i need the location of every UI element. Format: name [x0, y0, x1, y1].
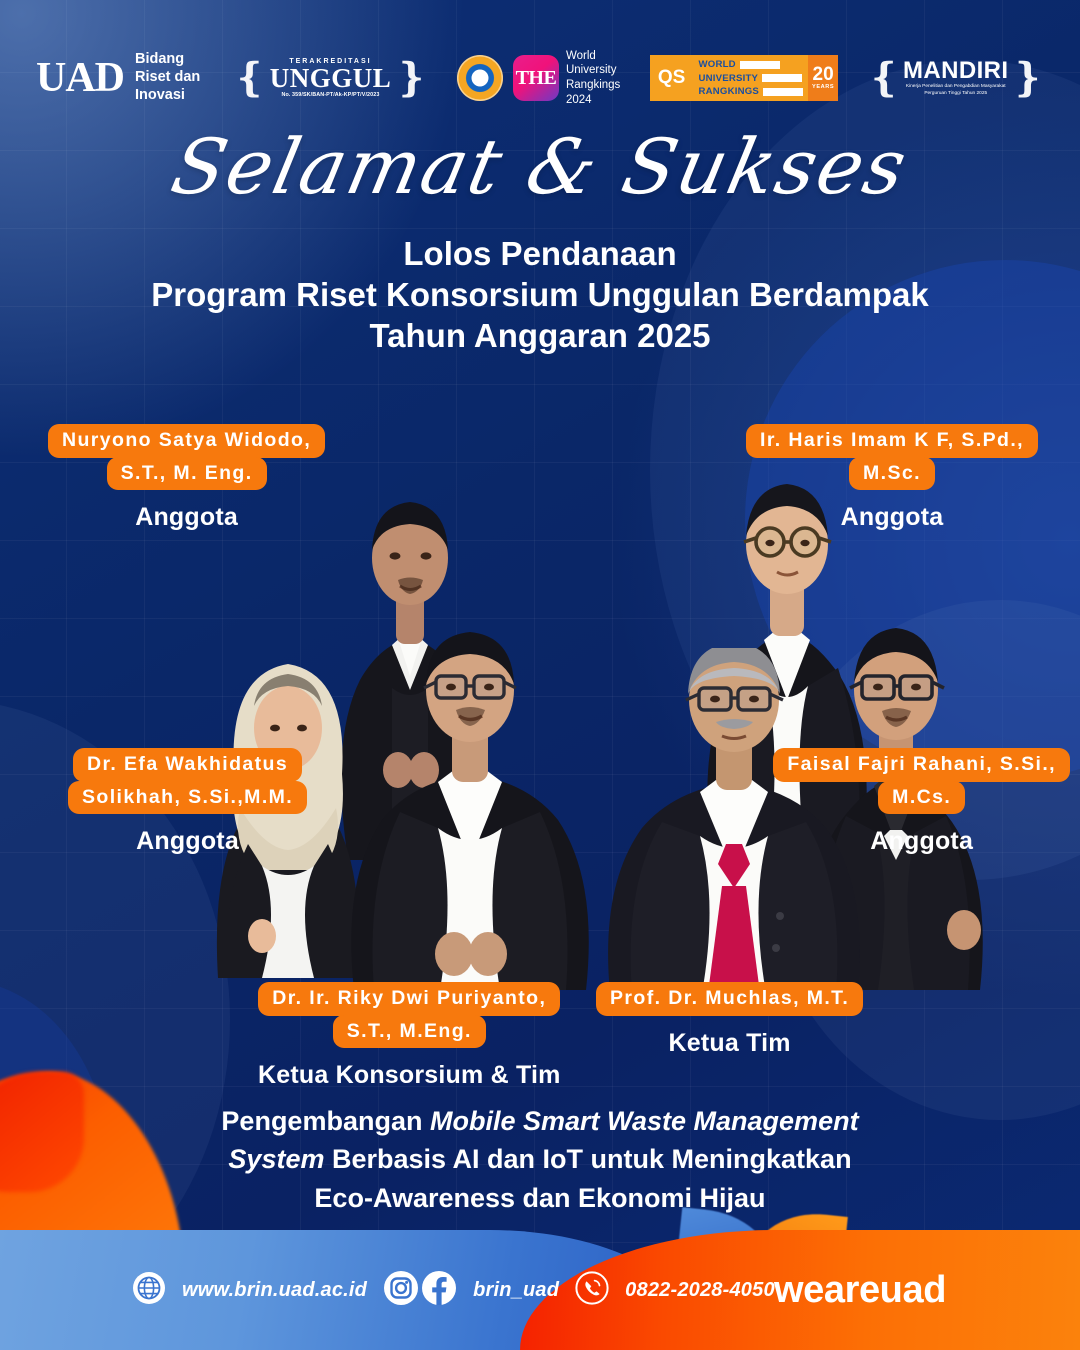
- name-badge-faisal: Faisal Fajri Rahani, S.Si., M.Cs.: [773, 748, 1070, 814]
- name-badge-haris: Ir. Haris Imam K F, S.Pd., M.Sc.: [746, 424, 1038, 490]
- badge-line: Faisal Fajri Rahani, S.Si.,: [773, 748, 1070, 782]
- role-label-nuryono: Anggota: [48, 503, 325, 532]
- instagram-icon[interactable]: [383, 1270, 419, 1311]
- role-label-muchlas: Ketua Tim: [596, 1029, 863, 1058]
- badge-line: Ir. Haris Imam K F, S.Pd.,: [746, 424, 1038, 458]
- project-line1-plain: Pengembangan: [221, 1106, 430, 1136]
- badge-line: M.Cs.: [878, 781, 965, 815]
- name-badge-muchlas: Prof. Dr. Muchlas, M.T.: [596, 982, 863, 1016]
- badge-line: Dr. Efa Wakhidatus: [73, 748, 302, 782]
- role-label-faisal: Anggota: [773, 827, 1070, 856]
- badge-group-riky: Dr. Ir. Riky Dwi Puriyanto, S.T., M.Eng.…: [258, 982, 561, 1090]
- badge-line: S.T., M. Eng.: [107, 457, 267, 491]
- footer-bar: www.brin.uad.ac.id br: [0, 1230, 1080, 1350]
- project-line1-italic: Mobile Smart Waste Management: [430, 1106, 859, 1136]
- badge-group-muchlas: Prof. Dr. Muchlas, M.T. Ketua Tim: [596, 982, 863, 1058]
- badge-line: Prof. Dr. Muchlas, M.T.: [596, 982, 863, 1016]
- role-label-haris: Anggota: [746, 503, 1038, 532]
- name-badge-efa: Dr. Efa Wakhidatus Solikhah, S.Si.,M.M.: [68, 748, 307, 814]
- badge-group-efa: Dr. Efa Wakhidatus Solikhah, S.Si.,M.M. …: [68, 748, 307, 856]
- project-title: Pengembangan Mobile Smart Waste Manageme…: [0, 1102, 1080, 1217]
- badge-line: S.T., M.Eng.: [333, 1015, 486, 1049]
- name-badge-riky: Dr. Ir. Riky Dwi Puriyanto, S.T., M.Eng.: [258, 982, 561, 1048]
- badge-line: M.Sc.: [849, 457, 935, 491]
- weareuad-brandmark: weareuad: [520, 1230, 1080, 1350]
- globe-icon: [132, 1271, 166, 1310]
- role-label-efa: Anggota: [68, 827, 307, 856]
- name-badge-nuryono: Nuryono Satya Widodo, S.T., M. Eng.: [48, 424, 325, 490]
- badge-line: Nuryono Satya Widodo,: [48, 424, 325, 458]
- badge-group-haris: Ir. Haris Imam K F, S.Pd., M.Sc. Anggota: [746, 424, 1038, 532]
- social-icon-pair: [383, 1270, 457, 1311]
- badge-line: Solikhah, S.Si.,M.M.: [68, 781, 307, 815]
- website-label[interactable]: www.brin.uad.ac.id: [182, 1279, 367, 1302]
- poster-canvas: UAD Bidang Riset dan Inovasi ❴ TERAKREDI…: [0, 0, 1080, 1350]
- role-label-riky: Ketua Konsorsium & Tim: [258, 1061, 561, 1090]
- facebook-icon[interactable]: [421, 1270, 457, 1311]
- badge-line: Dr. Ir. Riky Dwi Puriyanto,: [258, 982, 560, 1016]
- project-line2-italic: System: [228, 1144, 324, 1174]
- photo-riky-dwi-puriyanto: [320, 630, 620, 990]
- badge-group-nuryono: Nuryono Satya Widodo, S.T., M. Eng. Angg…: [48, 424, 325, 532]
- project-line2-plain: Berbasis AI dan IoT untuk Meningkatkan: [324, 1144, 851, 1174]
- badge-group-faisal: Faisal Fajri Rahani, S.Si., M.Cs. Anggot…: [773, 748, 1070, 856]
- weareuad-label: weareuad: [774, 1269, 946, 1312]
